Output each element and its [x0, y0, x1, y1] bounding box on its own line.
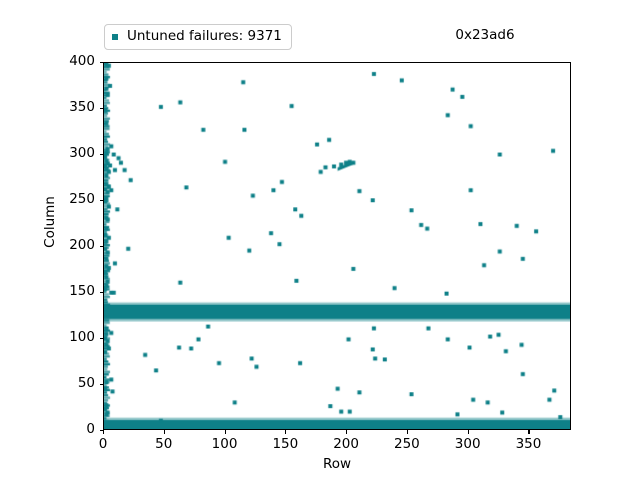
y-tick-label: 0 [35, 421, 95, 437]
y-tick-mark [100, 384, 104, 385]
legend-label: Untuned failures: 9371 [127, 30, 282, 44]
y-tick-label: 350 [35, 99, 95, 115]
x-tick-mark [346, 430, 347, 434]
matplotlib-figure: Untuned failures: 9371 0x23ad6 050100150… [0, 0, 640, 480]
x-tick-label: 50 [134, 436, 194, 452]
y-tick-mark [100, 154, 104, 155]
chart-title: 0x23ad6 [400, 27, 570, 43]
y-axis-label: Column [42, 152, 58, 292]
x-tick-label: 250 [377, 436, 437, 452]
y-tick-label: 100 [35, 329, 95, 345]
x-tick-mark [285, 430, 286, 434]
plot-area [103, 62, 571, 430]
x-tick-mark [528, 430, 529, 434]
legend-marker-icon [112, 34, 118, 40]
x-tick-label: 0 [73, 436, 133, 452]
x-tick-mark [225, 430, 226, 434]
y-tick-label: 50 [35, 375, 95, 391]
y-tick-mark [100, 292, 104, 293]
scatter-canvas [104, 63, 570, 429]
x-tick-label: 150 [255, 436, 315, 452]
x-tick-mark [468, 430, 469, 434]
x-tick-label: 350 [498, 436, 558, 452]
chart-legend: Untuned failures: 9371 [104, 24, 292, 50]
x-tick-label: 200 [316, 436, 376, 452]
y-tick-mark [100, 430, 104, 431]
x-tick-mark [164, 430, 165, 434]
x-tick-mark [407, 430, 408, 434]
x-tick-label: 300 [438, 436, 498, 452]
y-tick-mark [100, 246, 104, 247]
y-tick-mark [100, 108, 104, 109]
x-axis-label: Row [103, 456, 571, 472]
y-tick-mark [100, 338, 104, 339]
x-tick-mark [103, 430, 104, 434]
x-tick-label: 100 [195, 436, 255, 452]
y-tick-label: 400 [35, 53, 95, 69]
y-tick-mark [100, 200, 104, 201]
y-tick-mark [100, 62, 104, 63]
